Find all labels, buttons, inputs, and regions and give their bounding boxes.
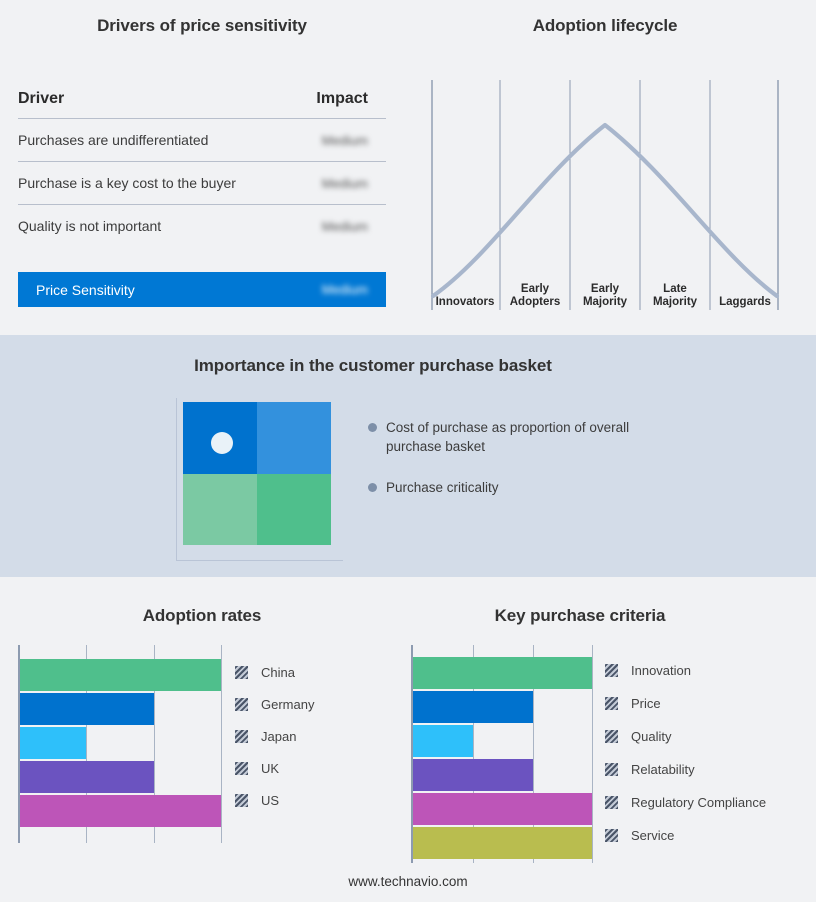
adoption-rates-bar-chart <box>18 645 228 843</box>
impact-value: Medium <box>322 133 386 148</box>
hatched-swatch-icon <box>605 664 618 677</box>
legend-label: US <box>261 793 279 808</box>
matrix-quadrant-bottom-left <box>183 474 257 546</box>
legend-label: Regulatory Compliance <box>631 795 766 810</box>
legend-label: Quality <box>631 729 671 744</box>
matrix-position-marker <box>211 432 233 454</box>
adoption-lifecycle-chart <box>430 80 780 310</box>
hatched-swatch-icon <box>605 697 618 710</box>
lifecycle-stage-dividers <box>432 80 778 310</box>
legend-label: Purchase criticality <box>386 478 499 497</box>
legend-label: China <box>261 665 295 680</box>
legend-item: Service <box>605 819 805 852</box>
legend-item: Germany <box>235 688 385 720</box>
infographic-page: Drivers of price sensitivity Driver Impa… <box>0 0 816 902</box>
legend-item: Purchase criticality <box>368 478 658 497</box>
stage-line2: Majority <box>583 296 627 309</box>
lifecycle-stage-late-majority: Late Majority <box>640 278 710 310</box>
bullet-dot-icon <box>368 483 377 492</box>
bar-us <box>20 795 221 827</box>
legend-item: US <box>235 784 385 816</box>
hatched-swatch-icon <box>605 730 618 743</box>
matrix-quadrant-bottom-right <box>257 474 331 546</box>
legend-item: Relatability <box>605 753 805 786</box>
plot-area <box>411 645 594 863</box>
legend-label: Japan <box>261 729 296 744</box>
column-header-impact: Impact <box>316 90 386 108</box>
bar-germany <box>20 693 154 725</box>
adoption-rates-title: Adoption rates <box>18 606 386 626</box>
bar-china <box>20 659 221 691</box>
basket-legend: Cost of purchase as proportion of overal… <box>368 418 658 519</box>
stage-line1: Early <box>521 283 549 296</box>
purchase-criteria-legend: Innovation Price Quality Relatability Re… <box>605 654 805 852</box>
footer-url: www.technavio.com <box>0 874 816 889</box>
plot-area <box>18 645 223 843</box>
price-sensitivity-summary-row: Price Sensitivity Medium <box>18 272 386 307</box>
hatched-swatch-icon <box>235 730 248 743</box>
gridline <box>592 645 593 863</box>
purchase-criteria-title: Key purchase criteria <box>410 606 750 626</box>
legend-label: Cost of purchase as proportion of overal… <box>386 418 658 456</box>
legend-item: Japan <box>235 720 385 752</box>
legend-item: China <box>235 656 385 688</box>
hatched-swatch-icon <box>235 666 248 679</box>
bar-price <box>413 691 533 723</box>
basket-title: Importance in the customer purchase bask… <box>108 356 638 376</box>
matrix-quadrant-top-right <box>257 402 331 474</box>
table-row: Purchases are undifferentiated Medium <box>18 119 386 162</box>
bar-service <box>413 827 592 859</box>
lifecycle-stage-early-adopters: Early Adopters <box>500 278 570 310</box>
table-header-row: Driver Impact <box>18 90 386 119</box>
driver-name: Purchase is a key cost to the buyer <box>18 175 236 191</box>
legend-label: Service <box>631 828 674 843</box>
hatched-swatch-icon <box>605 796 618 809</box>
drivers-title: Drivers of price sensitivity <box>18 16 386 36</box>
legend-item: Cost of purchase as proportion of overal… <box>368 418 658 456</box>
stage-line1: Early <box>591 283 619 296</box>
bar-japan <box>20 727 86 759</box>
lifecycle-stage-laggards: Laggards <box>710 278 780 310</box>
hatched-swatch-icon <box>605 763 618 776</box>
bar-uk <box>20 761 154 793</box>
stage-line2: Adopters <box>510 296 560 309</box>
legend-item: Innovation <box>605 654 805 687</box>
matrix-quadrant-top-left <box>183 402 257 474</box>
table-row: Purchase is a key cost to the buyer Medi… <box>18 162 386 205</box>
hatched-swatch-icon <box>235 762 248 775</box>
legend-label: Germany <box>261 697 314 712</box>
table-row: Quality is not important Medium <box>18 205 386 247</box>
price-sensitivity-impact: Medium <box>322 282 386 297</box>
impact-value: Medium <box>322 176 386 191</box>
drivers-table: Driver Impact Purchases are undifferenti… <box>18 90 386 247</box>
lifecycle-stage-labels: Innovators Early Adopters Early Majority… <box>430 278 780 310</box>
legend-item: UK <box>235 752 385 784</box>
hatched-swatch-icon <box>235 698 248 711</box>
legend-label: UK <box>261 761 279 776</box>
stage-line2: Majority <box>653 296 697 309</box>
bar-regulatory-compliance <box>413 793 592 825</box>
hatched-swatch-icon <box>235 794 248 807</box>
bar-quality <box>413 725 473 757</box>
gridline <box>221 645 222 843</box>
lifecycle-curve-svg <box>430 80 780 310</box>
stage-line2: Innovators <box>436 296 495 309</box>
lifecycle-stage-early-majority: Early Majority <box>570 278 640 310</box>
bar-innovation <box>413 657 592 689</box>
impact-value: Medium <box>322 219 386 234</box>
legend-item: Price <box>605 687 805 720</box>
hatched-swatch-icon <box>605 829 618 842</box>
lifecycle-stage-innovators: Innovators <box>430 278 500 310</box>
lifecycle-title: Adoption lifecycle <box>430 16 780 36</box>
legend-item: Regulatory Compliance <box>605 786 805 819</box>
key-purchase-criteria-bar-chart <box>411 645 596 863</box>
driver-name: Quality is not important <box>18 218 161 234</box>
stage-line1: Late <box>663 283 687 296</box>
driver-name: Purchases are undifferentiated <box>18 132 208 148</box>
adoption-rates-legend: China Germany Japan UK US <box>235 656 385 816</box>
bullet-dot-icon <box>368 423 377 432</box>
column-header-driver: Driver <box>18 90 64 108</box>
legend-label: Relatability <box>631 762 695 777</box>
stage-line2: Laggards <box>719 296 771 309</box>
bar-relatability <box>413 759 533 791</box>
legend-label: Price <box>631 696 661 711</box>
legend-item: Quality <box>605 720 805 753</box>
purchase-basket-matrix <box>183 402 331 545</box>
legend-label: Innovation <box>631 663 691 678</box>
lifecycle-bell-curve <box>433 125 777 296</box>
price-sensitivity-label: Price Sensitivity <box>36 282 135 298</box>
